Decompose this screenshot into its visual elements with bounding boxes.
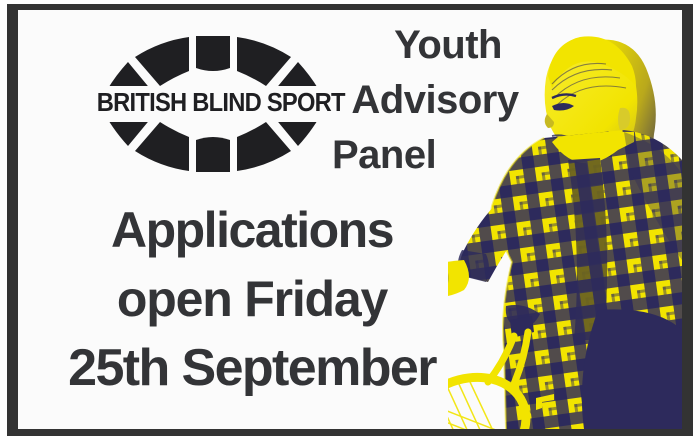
message-line-3: 25th September (32, 334, 472, 403)
message-line-1: Applications (32, 196, 472, 265)
message-line-2: open Friday (32, 265, 472, 334)
announcement-text: Applications open Friday 25th September (32, 196, 472, 403)
poster-canvas: BRITISH BLIND SPORT Youth Advisory Panel… (18, 10, 682, 429)
poster: BRITISH BLIND SPORT Youth Advisory Panel… (0, 0, 700, 441)
brand-wordmark: BRITISH BLIND SPORT (97, 88, 330, 118)
british-blind-sport-eye-logo: BRITISH BLIND SPORT (88, 28, 338, 180)
athlete-photo (448, 10, 682, 429)
